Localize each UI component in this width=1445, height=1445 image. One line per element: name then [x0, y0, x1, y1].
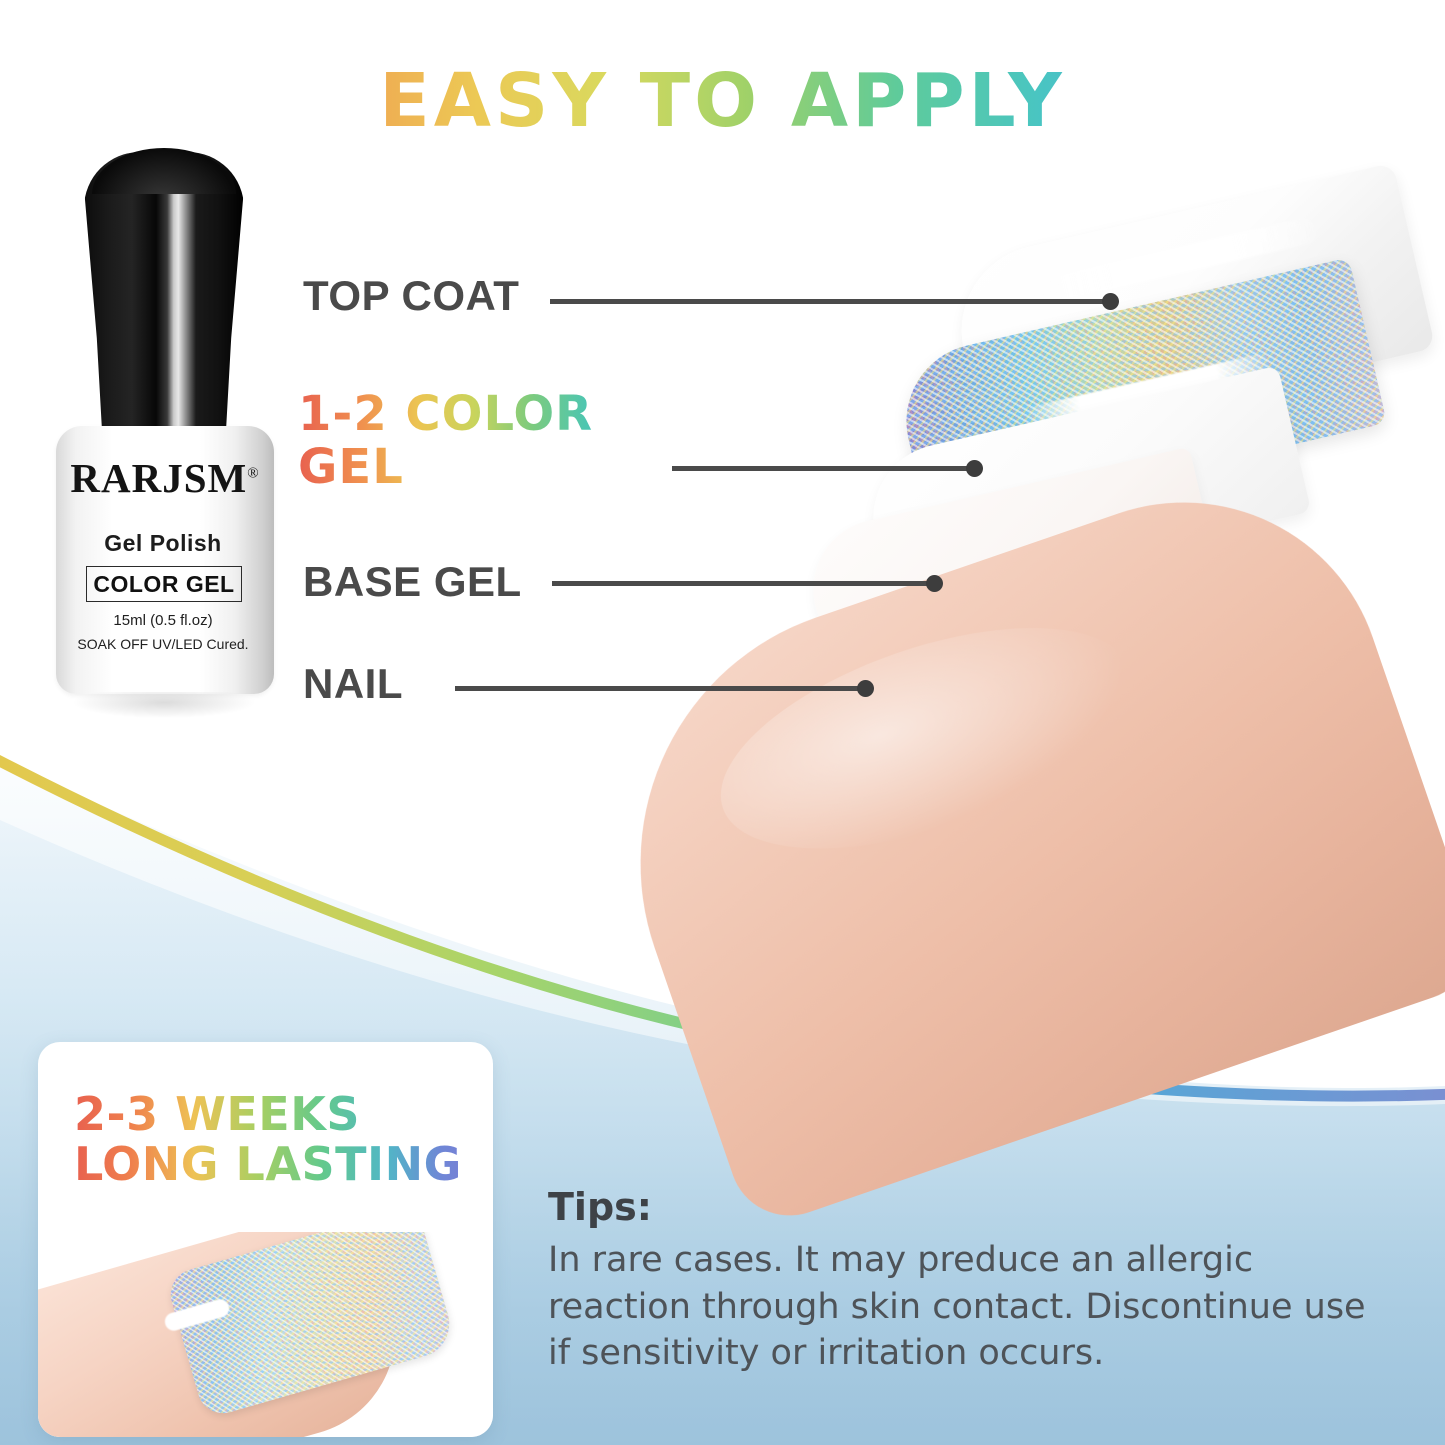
bottle-category-box: COLOR GEL [86, 566, 242, 602]
brand-name: RARJSM [70, 455, 247, 501]
leader-line-base-gel [552, 581, 934, 586]
registered-mark: ® [247, 465, 259, 481]
product-bottle: RARJSM® Gel Polish COLOR GEL 15ml (0.5 f… [48, 152, 288, 732]
leader-dot-nail [857, 680, 874, 697]
bottle-product-type: Gel Polish [48, 530, 278, 557]
bottle-shadow [74, 692, 254, 718]
bottle-cure-note: SOAK OFF UV/LED Cured. [48, 636, 278, 652]
leader-line-top-coat [550, 299, 1110, 304]
label-color-gel-line2: GEL [298, 439, 404, 495]
bottle-category-label: COLOR GEL [93, 571, 234, 598]
label-top-coat: TOP COAT [303, 272, 519, 320]
tips-heading: Tips: [548, 1185, 652, 1229]
card-title-line2: LONG LASTING [74, 1137, 462, 1191]
bottle-volume: 15ml (0.5 fl.oz) [48, 612, 278, 629]
card-title-line1: 2-3 WEEKS [74, 1087, 360, 1141]
leader-line-color-gel [672, 466, 972, 471]
tips-body-text: In rare cases. It may preduce an allergi… [548, 1237, 1378, 1377]
leader-dot-base-gel [926, 575, 943, 592]
page-title: EASY TO APPLY [0, 58, 1445, 144]
bottle-cap-top [92, 148, 236, 194]
leader-dot-top-coat [1102, 293, 1119, 310]
bottle-cap [84, 152, 244, 452]
leader-line-nail [455, 686, 865, 691]
card-nail-photo [38, 1232, 493, 1437]
leader-dot-color-gel [966, 460, 983, 477]
infographic-canvas: EASY TO APPLY RARJSM® Gel Polish COLOR G… [0, 0, 1445, 1445]
long-lasting-card: 2-3 WEEKS LONG LASTING [38, 1042, 493, 1437]
label-color-gel-line1: 1-2 COLOR [298, 386, 593, 442]
label-nail: NAIL [303, 660, 403, 708]
card-title: 2-3 WEEKS LONG LASTING [74, 1090, 474, 1189]
label-color-gel: 1-2 COLOR GEL [298, 388, 698, 494]
label-base-gel: BASE GEL [303, 558, 522, 606]
bottle-brand-label: RARJSM® [48, 454, 282, 502]
